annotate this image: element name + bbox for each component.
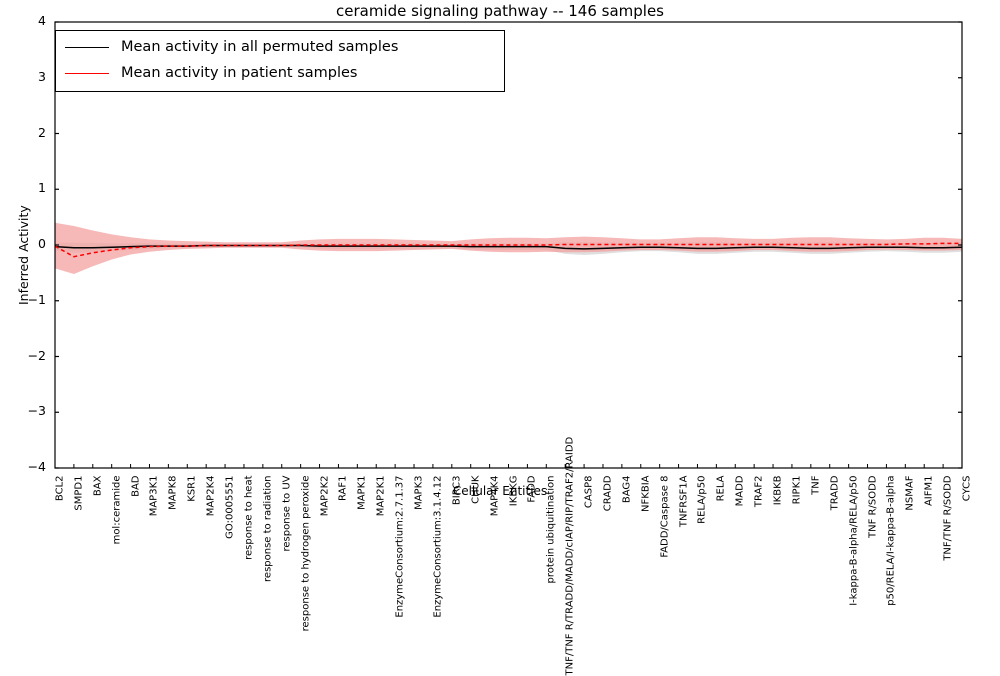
y-tick-label: 4 xyxy=(8,13,46,28)
legend-item-permuted: Mean activity in all permuted samples xyxy=(56,34,504,60)
x-tick-label: GO:0005551 xyxy=(225,476,236,676)
x-tick-label: CHUK xyxy=(470,476,481,676)
x-tick-label: IKBKB xyxy=(773,476,784,676)
x-tick-label: MAPK8 xyxy=(168,476,179,676)
x-tick-label: TRAF2 xyxy=(754,476,765,676)
x-tick-label: FADD xyxy=(527,476,538,676)
x-tick-label: protein ubiquitination xyxy=(546,476,557,676)
y-tick-label: −2 xyxy=(8,348,46,363)
x-tick-label: BAG4 xyxy=(621,476,632,676)
x-tick-label: RAF1 xyxy=(338,476,349,676)
y-axis-label: Inferred Activity xyxy=(16,205,31,305)
x-tick-label: BAX xyxy=(92,476,103,676)
x-tick-label: TNF xyxy=(810,476,821,676)
x-tick-label: mol:ceramide xyxy=(111,476,122,676)
x-tick-label: RELA xyxy=(716,476,727,676)
y-tick-label: −3 xyxy=(8,403,46,418)
x-tick-label: MAP3K1 xyxy=(149,476,160,676)
x-tick-label: response to radiation xyxy=(262,476,273,676)
x-tick-label: response to heat xyxy=(243,476,254,676)
x-tick-label: EnzymeConsortium:2.7.1.37 xyxy=(395,476,406,676)
y-tick-label: 2 xyxy=(8,125,46,140)
x-tick-label: TNFRSF1A xyxy=(678,476,689,676)
x-tick-label: SMPD1 xyxy=(73,476,84,676)
x-tick-label: response to UV xyxy=(281,476,292,676)
x-tick-label: p50/RELA/I-kappa-B-alpha xyxy=(886,476,897,676)
x-tick-label: EnzymeConsortium:3.1.4.12 xyxy=(432,476,443,676)
x-tick-label: RELA/p50 xyxy=(697,476,708,676)
x-tick-label: BCL2 xyxy=(55,476,66,676)
x-tick-label: MAP2K2 xyxy=(319,476,330,676)
x-tick-label: MAPK3 xyxy=(414,476,425,676)
x-tick-label: NFKBIA xyxy=(640,476,651,676)
x-tick-label: MADD xyxy=(735,476,746,676)
x-tick-label: BAD xyxy=(130,476,141,676)
x-tick-label: KSR1 xyxy=(187,476,198,676)
x-tick-label: MAP2K4 xyxy=(206,476,217,676)
x-tick-label: CASP8 xyxy=(584,476,595,676)
x-tick-label: BIRC3 xyxy=(451,476,462,676)
x-tick-label: I-kappa-B-alpha/RELA/p50 xyxy=(848,476,859,676)
x-tick-label: MAPK1 xyxy=(357,476,368,676)
x-tick-label: CYCS xyxy=(962,476,973,676)
legend-item-patient: Mean activity in patient samples xyxy=(56,60,504,86)
x-tick-label: NSMAF xyxy=(905,476,916,676)
legend-label-permuted: Mean activity in all permuted samples xyxy=(121,39,398,55)
x-tick-label: MAP4K4 xyxy=(489,476,500,676)
x-tick-label: RIPK1 xyxy=(791,476,802,676)
x-tick-label: FADD/Caspase 8 xyxy=(659,476,670,676)
legend-line-black xyxy=(65,47,109,48)
x-tick-label: TNF/TNF R/SODD xyxy=(943,476,954,676)
legend-label-patient: Mean activity in patient samples xyxy=(121,65,357,81)
legend-line-red xyxy=(65,73,109,74)
y-tick-label: 1 xyxy=(8,180,46,195)
x-tick-label: IKBKG xyxy=(508,476,519,676)
y-tick-label: 3 xyxy=(8,69,46,84)
x-tick-label: TRADD xyxy=(829,476,840,676)
x-tick-label: MAP2K1 xyxy=(376,476,387,676)
x-tick-label: AIFM1 xyxy=(924,476,935,676)
x-axis-label: Cellular Entities xyxy=(0,484,1000,498)
x-tick-label: CRADD xyxy=(602,476,613,676)
x-tick-label: TNF/TNF R/TRADD/MADD/cIAP/RIP/TRAF2/RAID… xyxy=(565,476,576,676)
x-tick-label: TNF R/SODD xyxy=(867,476,878,676)
y-tick-label: −4 xyxy=(8,459,46,474)
legend: Mean activity in all permuted samples Me… xyxy=(55,30,505,92)
x-tick-label: response to hydrogen peroxide xyxy=(300,476,311,676)
